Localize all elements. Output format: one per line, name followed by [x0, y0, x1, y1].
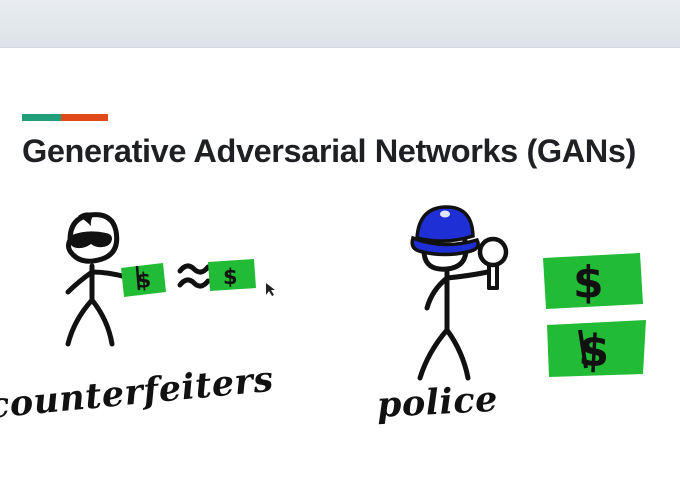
- bill-symbol-fake: $: [136, 268, 152, 293]
- accent-segment-teal: [22, 114, 61, 121]
- bill-symbol-real-stack: $: [573, 257, 604, 308]
- bill-stack-fake: $: [547, 320, 646, 378]
- police-left-leg: [420, 330, 447, 378]
- police-cap-highlight: [440, 211, 450, 218]
- bill-fake-held: $: [121, 263, 166, 297]
- page-title: Generative Adversarial Networks (GANs): [22, 133, 662, 170]
- bill-symbol-fake-stack: $: [577, 325, 610, 378]
- accent-segment-orange: [61, 114, 108, 121]
- police-right-arm: [447, 272, 488, 278]
- police-left-arm: [427, 278, 447, 308]
- slide-canvas: Generative Adversarial Networks (GANs) $: [0, 0, 680, 500]
- label-counterfeiters: counterfeiters: [0, 359, 275, 427]
- police-stick-figure: [420, 229, 488, 378]
- bandit-mask-icon: [70, 212, 112, 248]
- police-cap-icon: [412, 207, 478, 255]
- counterfeiter-left-arm: [68, 272, 92, 292]
- window-top-band: [0, 0, 680, 48]
- police-head: [424, 229, 466, 269]
- title-accent-rule: [22, 114, 108, 121]
- counterfeiter-head: [69, 215, 117, 262]
- approx-equal-sign: [180, 266, 208, 286]
- magnifying-glass-icon: [480, 239, 506, 288]
- illustration-canvas: $ $: [0, 0, 680, 500]
- bill-real-compared: $: [208, 259, 256, 291]
- counterfeiter-left-leg: [68, 300, 92, 344]
- counterfeiter-right-leg: [92, 300, 112, 344]
- counterfeiter-right-arm: [92, 272, 126, 277]
- bill-stack-real: $: [543, 253, 643, 309]
- label-police: police: [376, 379, 499, 426]
- bill-symbol-real-compared: $: [223, 265, 238, 289]
- mouse-cursor-artifact: [266, 283, 275, 296]
- counterfeiter-stick-figure: [68, 215, 126, 344]
- counterfeiter-hair-tuft: [78, 212, 94, 226]
- police-right-leg: [447, 330, 468, 378]
